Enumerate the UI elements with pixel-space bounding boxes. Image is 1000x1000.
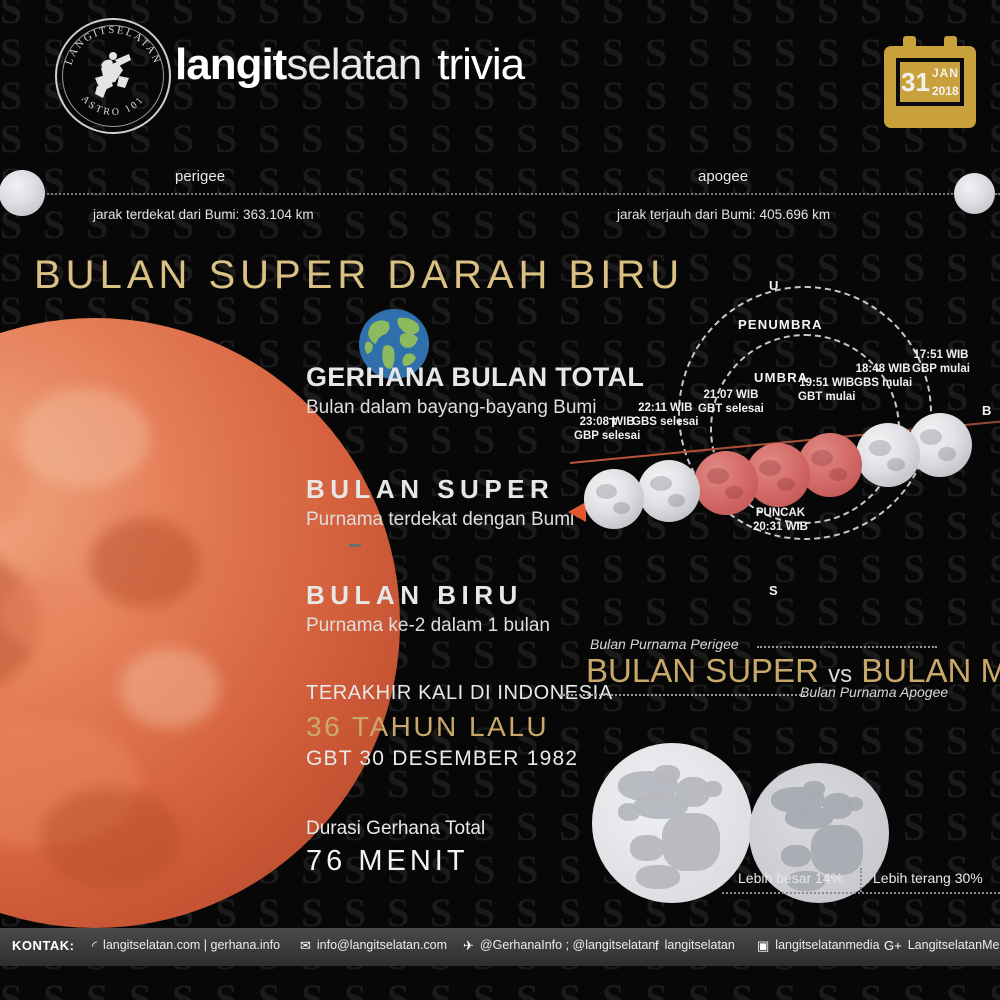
- moon-icon-perigee: [0, 170, 45, 216]
- footer-item-text: LangitselatanMedia: [908, 938, 1000, 952]
- feature-bulan-biru: BULAN BIRU Purnama ke-2 dalam 1 bulan: [306, 580, 550, 637]
- footer-item-text: info@langitselatan.com: [317, 938, 447, 952]
- envelope-icon: ✉: [300, 939, 311, 952]
- apogee-label: apogee: [698, 168, 748, 185]
- eclipse-duration: Durasi Gerhana Total 76 MENIT: [306, 818, 485, 878]
- title-left: BULAN SUPER: [586, 652, 819, 689]
- moon-icon-apogee: [954, 173, 995, 214]
- footer-item-googleplus[interactable]: G+ LangitselatanMedia: [884, 938, 1000, 952]
- langitselatan-logo-icon: LANGITSELATAN ASTRO 101: [55, 18, 171, 134]
- feature-heading: BULAN BIRU: [306, 580, 550, 611]
- footer-item-text: langitselatanmedia: [775, 938, 879, 952]
- cardinal-south: S: [769, 583, 778, 598]
- footer-item-text: langitselatan: [665, 938, 735, 952]
- phase-label-gbt-selesai: 21:07 WIBGBT selesai: [698, 388, 764, 416]
- brand-title: langitselatantrivia: [175, 40, 524, 90]
- calendar-day: 31: [901, 69, 930, 95]
- footer-item-email[interactable]: ✉ info@langitselatan.com: [300, 938, 447, 952]
- svg-text:ASTRO 101: ASTRO 101: [79, 94, 147, 119]
- perigee-caption: Bulan Purnama Perigee: [590, 636, 739, 652]
- cardinal-north: U: [769, 278, 779, 293]
- calendar-icon: 31 JAN 2018: [884, 36, 976, 128]
- phase-label-gbp-selesai: 23:08 WIBGBP selesai: [574, 415, 640, 443]
- feature-bulan-super: BULAN SUPER Purnama terdekat dengan Bumi: [306, 474, 574, 531]
- stat-dotted-tick: [860, 868, 862, 892]
- cardinal-west: B: [982, 403, 992, 418]
- moon-phase-gbp-selesai: [584, 469, 644, 529]
- footer-item-twitter[interactable]: ✈ @GerhanaInfo ; @langitselatan: [463, 938, 655, 952]
- moon-phase-gbs-selesai: [638, 460, 700, 522]
- footer-item-website[interactable]: ◜ langitselatan.com | gerhana.info: [92, 938, 280, 952]
- googleplus-icon: G+: [884, 939, 902, 952]
- feature-sub: Purnama ke-2 dalam 1 bulan: [306, 615, 550, 637]
- facebook-icon: f: [655, 939, 659, 952]
- moon-phase-gbt-selesai: [694, 451, 758, 515]
- feature-sub: Purnama terdekat dengan Bumi: [306, 509, 574, 531]
- duration-value: 76 MENIT: [306, 845, 485, 878]
- eclipse-diagram: U S T B PENUMBRA UMBRA: [560, 270, 1000, 610]
- footer-item-text: langitselatan.com | gerhana.info: [103, 938, 280, 952]
- peak-label: PUNCAK20:31 WIB: [753, 506, 808, 534]
- orbit-band: perigee jarak terdekat dari Bumi: 363.10…: [0, 150, 1000, 240]
- apogee-caption: Bulan Purnama Apogee: [800, 684, 948, 700]
- footer-contact-bar: KONTAK: ◜ langitselatan.com | gerhana.in…: [0, 928, 1000, 966]
- feature-heading: BULAN SUPER: [306, 474, 574, 505]
- caption-dotted-line-bottom: [560, 694, 805, 696]
- brand-suffix: trivia: [437, 40, 524, 89]
- divider-dash: [349, 544, 361, 547]
- apogee-distance: jarak terjauh dari Bumi: 405.696 km: [617, 207, 830, 222]
- direction-arrow-icon: [568, 502, 586, 522]
- phase-label-gbp-mulai: 17:51 WIBGBP mulai: [912, 348, 970, 376]
- moon-phase-gbs-mulai: [856, 423, 920, 487]
- stat-bright-label: Lebih terang 30%: [873, 870, 983, 886]
- footer-item-text: @GerhanaInfo ; @langitselatan: [480, 938, 655, 952]
- supermoon-illustration: [592, 743, 752, 903]
- penumbra-label: PENUMBRA: [738, 317, 823, 332]
- twitter-icon: ✈: [463, 939, 474, 952]
- footer-label: KONTAK:: [12, 938, 74, 953]
- caption-dotted-line-top: [757, 646, 937, 648]
- duration-label: Durasi Gerhana Total: [306, 818, 485, 840]
- instagram-icon: ▣: [757, 939, 769, 952]
- brand-light: selatan: [286, 40, 421, 89]
- perigee-label: perigee: [175, 168, 225, 185]
- stat-dotted-line: [722, 892, 1000, 894]
- stat-size-label: Lebih besar 14%: [738, 870, 843, 886]
- footer-item-facebook[interactable]: f langitselatan: [655, 938, 735, 952]
- brand-bold: langit: [175, 40, 286, 89]
- orbit-dotted-line: [0, 193, 1000, 195]
- svg-text:LANGITSELATAN: LANGITSELATAN: [64, 25, 163, 66]
- phase-label-gbs-selesai: 22:11 WIBGBS selesai: [632, 401, 698, 429]
- phase-label-gbs-mulai: 18:48 WIBGBS mulai: [854, 362, 912, 390]
- perigee-distance: jarak terdekat dari Bumi: 363.104 km: [93, 207, 314, 222]
- calendar-month: JAN: [932, 66, 959, 80]
- header: LANGITSELATAN ASTRO 101 langitselatantri…: [0, 0, 1000, 150]
- super-vs-mini-section: Bulan Purnama Perigee BULAN SUPER vs BUL…: [560, 630, 1000, 910]
- rss-icon: ◜: [92, 939, 97, 952]
- footer-item-instagram[interactable]: ▣ langitselatanmedia: [757, 938, 880, 952]
- phase-label-gbt-mulai: 19:51 WIBGBT mulai: [798, 376, 856, 404]
- calendar-year: 2018: [932, 84, 959, 98]
- infographic-page: SSSSSSSSSSSSSSSSSSSSSSSSSSSSSSSSSSSSSSSS…: [0, 0, 1000, 1000]
